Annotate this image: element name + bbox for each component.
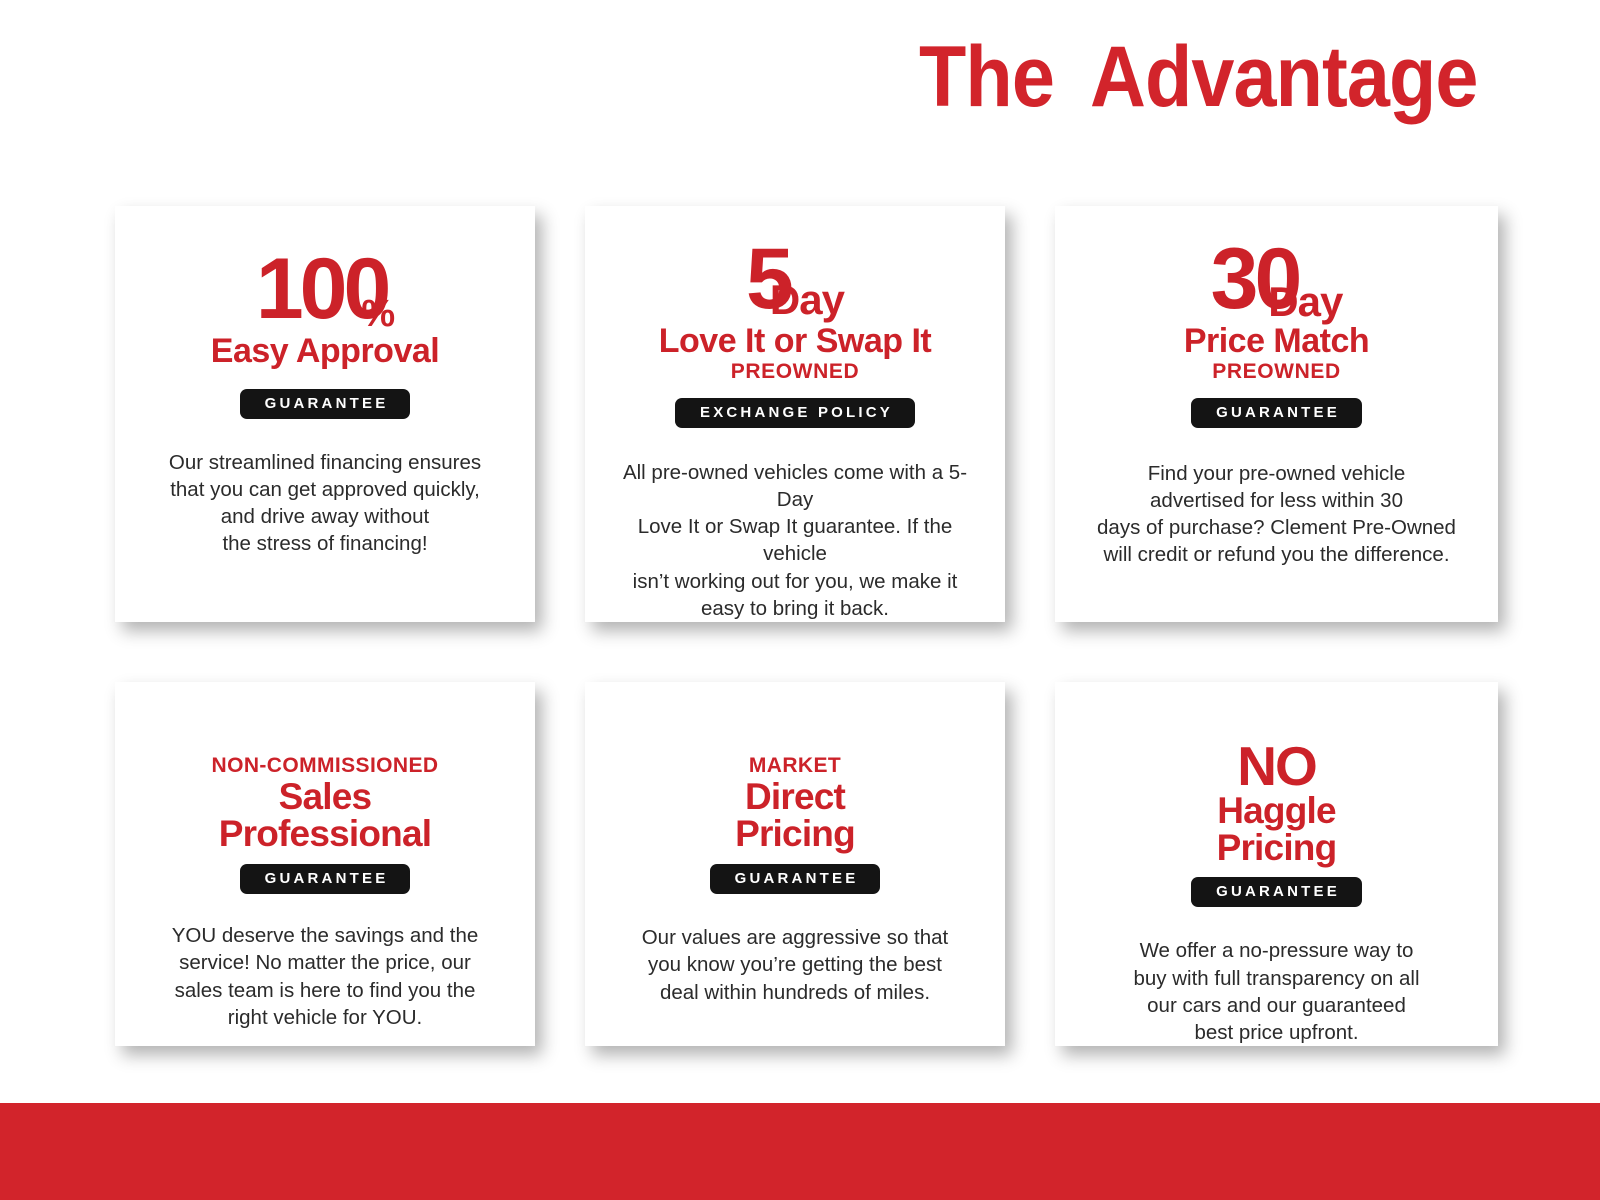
badge-wrap: GUARANTEE [240,864,411,894]
headline-price-match: Price Match [1184,324,1369,359]
page-header: TheAdvantage [0,0,1600,150]
headline-sales: Sales [279,778,372,815]
badge-wrap: GUARANTEE [1191,398,1362,428]
eyebrow-non-commissioned: NON-COMMISSIONED [212,754,439,778]
badge-wrap: GUARANTEE [1191,877,1362,907]
card-body-text: YOU deserve the savings and the service!… [172,922,479,1031]
card-body-text: Our values are aggressive so that you kn… [642,924,949,1006]
day-suffix: Day [770,276,844,323]
headline-professional: Professional [219,815,431,852]
card-easy-approval[interactable]: 100% Easy Approval GUARANTEE Our streaml… [115,206,535,622]
badge-wrap: GUARANTEE [240,389,411,419]
card-market-direct-pricing[interactable]: MARKET Direct Pricing GUARANTEE Our valu… [585,682,1005,1046]
page-title-advantage: Advantage [1090,29,1478,125]
headline-easy-approval: Easy Approval [211,334,439,369]
card-love-it-or-swap-it[interactable]: 5Day Love It or Swap It PREOWNED EXCHANG… [585,206,1005,622]
card-body-text: All pre-owned vehicles come with a 5-Day… [611,459,979,623]
headline-pricing: Pricing [735,815,855,852]
subhead-preowned: PREOWNED [731,360,859,384]
badge-wrap: EXCHANGE POLICY [675,398,915,428]
headline-no: NO [1237,740,1316,792]
card-sales-professional[interactable]: NON-COMMISSIONED Sales Professional GUAR… [115,682,535,1046]
page-title-the: The [919,29,1054,125]
status-badge-exchange-policy: EXCHANGE POLICY [675,398,915,428]
status-badge-guarantee: GUARANTEE [1191,877,1362,907]
badge-wrap: GUARANTEE [710,864,881,894]
card-body-text: Find your pre-owned vehicle advertised f… [1097,460,1456,569]
headline-love-it-or-swap-it: Love It or Swap It [659,324,931,359]
card-body-text: We offer a no-pressure way to buy with f… [1133,937,1419,1046]
footer-accent-bar [0,1103,1600,1200]
page-title: TheAdvantage [919,28,1478,126]
headline-lockup-5-day: 5Day [746,236,844,322]
headline-lockup-30-day: 30Day [1211,236,1343,322]
advantage-page: TheAdvantage 100% Easy Approval GUARANTE… [0,0,1600,1200]
status-badge-guarantee: GUARANTEE [240,864,411,894]
advantage-card-grid: 100% Easy Approval GUARANTEE Our streaml… [115,206,1507,1046]
headline-haggle: Haggle [1217,792,1336,829]
headline-direct: Direct [745,778,845,815]
subhead-preowned: PREOWNED [1212,360,1340,384]
eyebrow-market: MARKET [749,754,841,778]
headline-lockup-100-percent: 100% [256,246,394,332]
day-suffix: Day [1268,278,1342,325]
percent-suffix: % [361,293,394,335]
card-no-haggle-pricing[interactable]: NO Haggle Pricing GUARANTEE We offer a n… [1055,682,1498,1046]
headline-pricing: Pricing [1217,829,1337,866]
status-badge-guarantee: GUARANTEE [240,389,411,419]
card-body-text: Our streamlined financing ensures that y… [169,449,481,558]
status-badge-guarantee: GUARANTEE [710,864,881,894]
card-price-match[interactable]: 30Day Price Match PREOWNED GUARANTEE Fin… [1055,206,1498,622]
status-badge-guarantee: GUARANTEE [1191,398,1362,428]
